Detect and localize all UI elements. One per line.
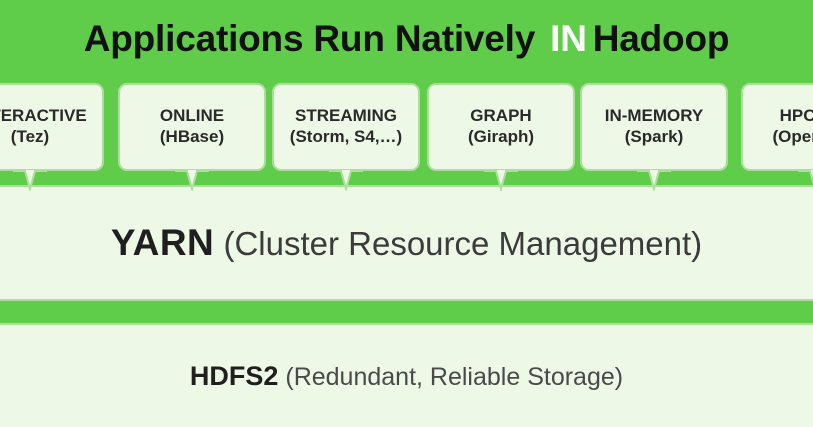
connector-notch-in-memory	[637, 169, 671, 191]
yarn-layer-text: YARN (Cluster Resource Management)	[111, 222, 702, 264]
app-box-streaming-engine: (Storm, S4,…)	[290, 127, 402, 148]
yarn-layer-name: YARN	[111, 222, 214, 263]
app-box-graph-title: GRAPH	[470, 106, 531, 127]
app-box-streaming[interactable]: STREAMING (Storm, S4,…)	[272, 83, 420, 171]
app-box-in-memory-title: IN-MEMORY	[605, 106, 704, 127]
page-title-text-after: Hadoop	[593, 18, 730, 60]
app-box-online-title: ONLINE	[160, 106, 224, 127]
connector-notch-interactive	[13, 169, 47, 191]
yarn-layer-description: (Cluster Resource Management)	[223, 225, 702, 262]
connector-notch-hpc-mpi	[798, 169, 813, 191]
app-box-hpc-mpi-title: HPC MPI	[780, 106, 813, 127]
connector-notch-streaming	[329, 169, 363, 191]
app-box-hpc-mpi[interactable]: HPC MPI (OpenMPI)	[741, 83, 813, 171]
app-box-interactive-title: INTERACTIVE	[0, 106, 87, 127]
app-box-streaming-title: STREAMING	[295, 106, 397, 127]
hdfs-layer-name: HDFS2	[190, 361, 279, 391]
page-title: Applications Run NativelyINHadoop	[0, 0, 813, 78]
app-box-online[interactable]: ONLINE (HBase)	[118, 83, 266, 171]
app-box-graph[interactable]: GRAPH (Giraph)	[427, 83, 575, 171]
app-box-in-memory-engine: (Spark)	[625, 127, 684, 148]
yarn-layer: YARN (Cluster Resource Management)	[0, 185, 813, 301]
app-box-in-memory[interactable]: IN-MEMORY (Spark)	[580, 83, 728, 171]
hdfs-layer-text: HDFS2 (Redundant, Reliable Storage)	[190, 361, 623, 392]
connector-notch-online	[175, 169, 209, 191]
app-box-hpc-mpi-engine: (OpenMPI)	[773, 127, 813, 148]
app-box-interactive-engine: (Tez)	[11, 127, 49, 148]
page-title-highlight: IN	[550, 18, 587, 60]
app-box-graph-engine: (Giraph)	[468, 127, 534, 148]
page-title-text-before: Applications Run Natively	[84, 18, 535, 60]
app-box-interactive[interactable]: INTERACTIVE (Tez)	[0, 83, 104, 171]
hadoop-stack-diagram: Applications Run NativelyINHadoop INTERA…	[0, 0, 813, 427]
hdfs-layer-description: (Redundant, Reliable Storage)	[285, 363, 623, 391]
hdfs-layer: HDFS2 (Redundant, Reliable Storage)	[0, 323, 813, 427]
layer-separator	[0, 301, 813, 323]
connector-notch-graph	[484, 169, 518, 191]
app-box-online-engine: (HBase)	[160, 127, 224, 148]
